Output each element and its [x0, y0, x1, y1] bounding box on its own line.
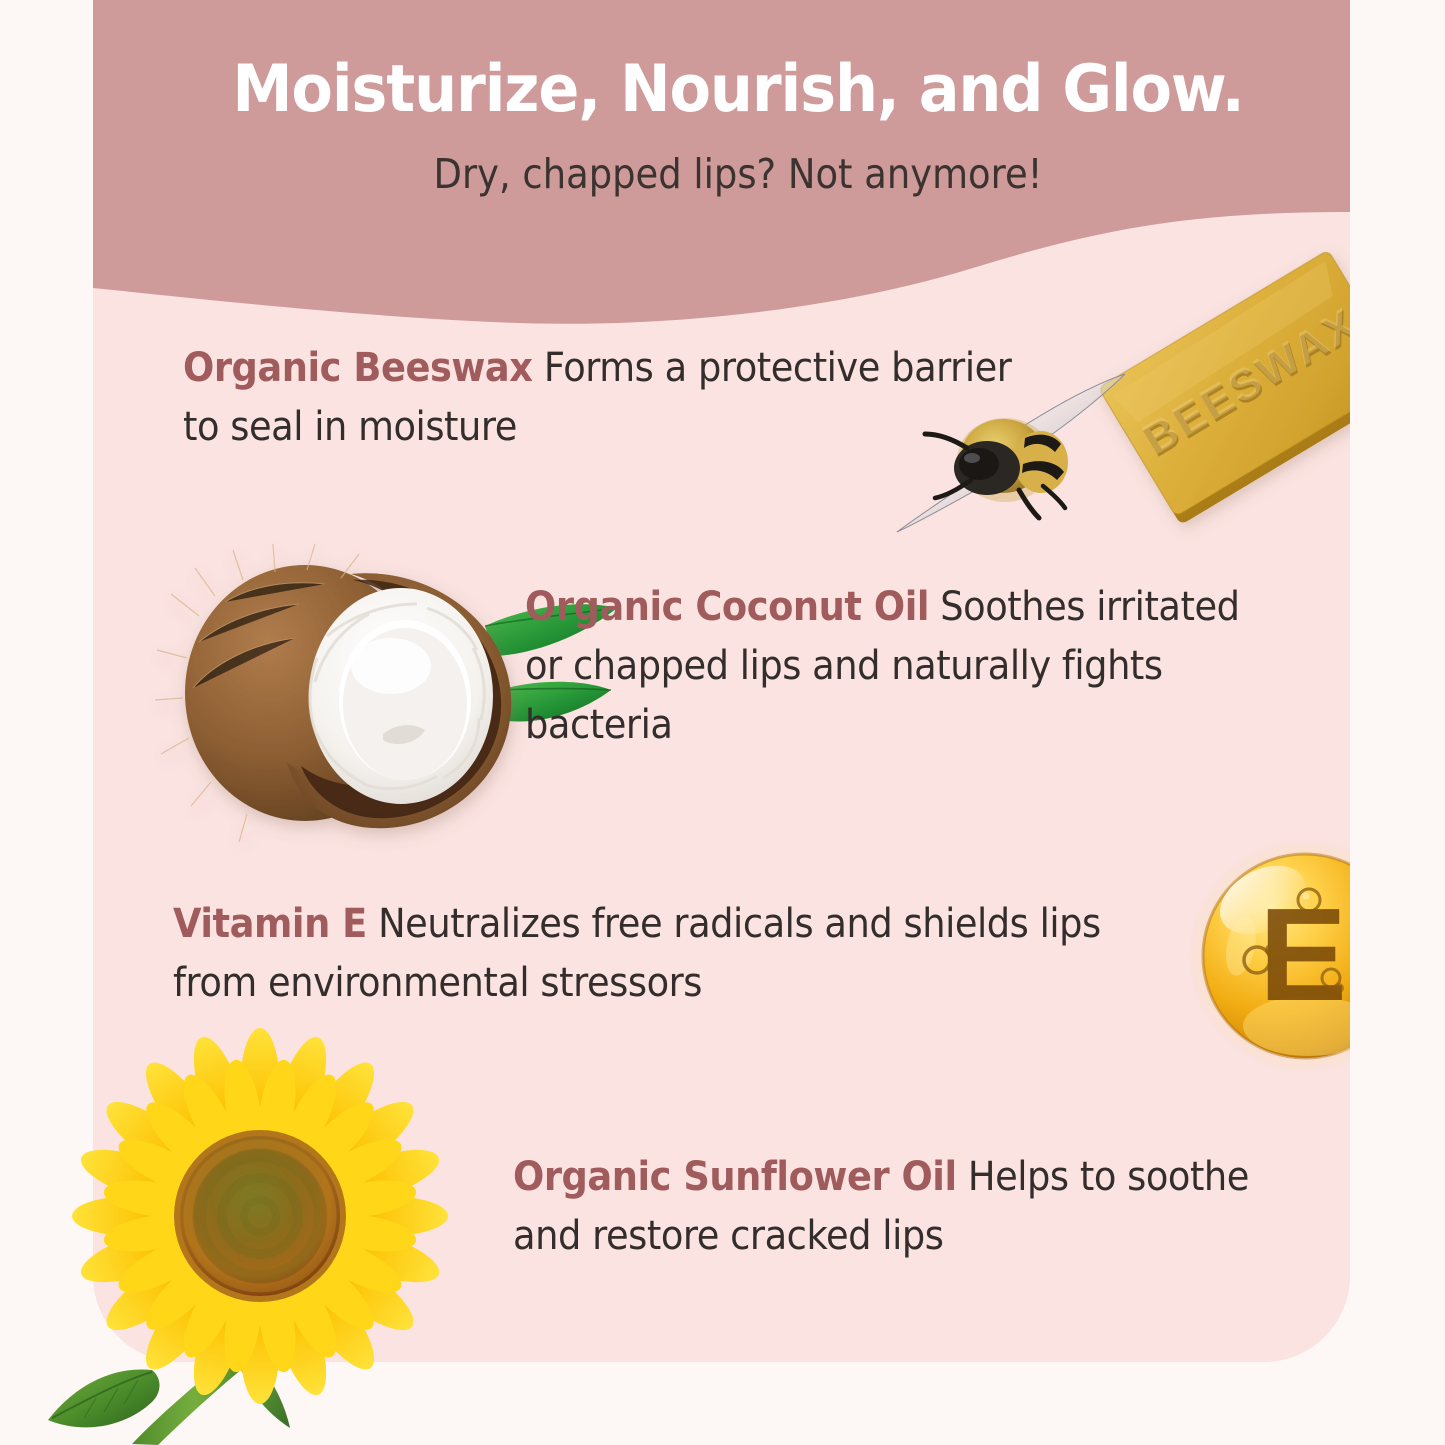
sunflower-image	[28, 1036, 458, 1445]
benefit-text-beeswax: Organic Beeswax Forms a protective barri…	[183, 339, 1052, 457]
benefit-lead-beeswax: Organic Beeswax	[183, 345, 533, 391]
infographic-canvas: Moisturize, Nourish, and Glow. Dry, chap…	[0, 0, 1445, 1445]
benefit-text-sunflower: Organic Sunflower Oil Helps to soothe an…	[513, 1148, 1267, 1266]
benefit-text-vitamin-e: Vitamin E Neutralizes free radicals and …	[173, 895, 1102, 1013]
benefit-text-coconut: Organic Coconut Oil Soothes irritated or…	[525, 578, 1252, 756]
benefit-lead-vitamin-e: Vitamin E	[173, 901, 367, 947]
beeswax-bar-image: BEESWAX BEESWAX	[1108, 245, 1350, 535]
benefit-lead-coconut: Organic Coconut Oil	[525, 584, 929, 630]
vitamin-e-capsule-image: E	[1183, 838, 1350, 1083]
benefit-lead-sunflower: Organic Sunflower Oil	[513, 1154, 957, 1200]
sunflower-leaf	[48, 1369, 160, 1427]
